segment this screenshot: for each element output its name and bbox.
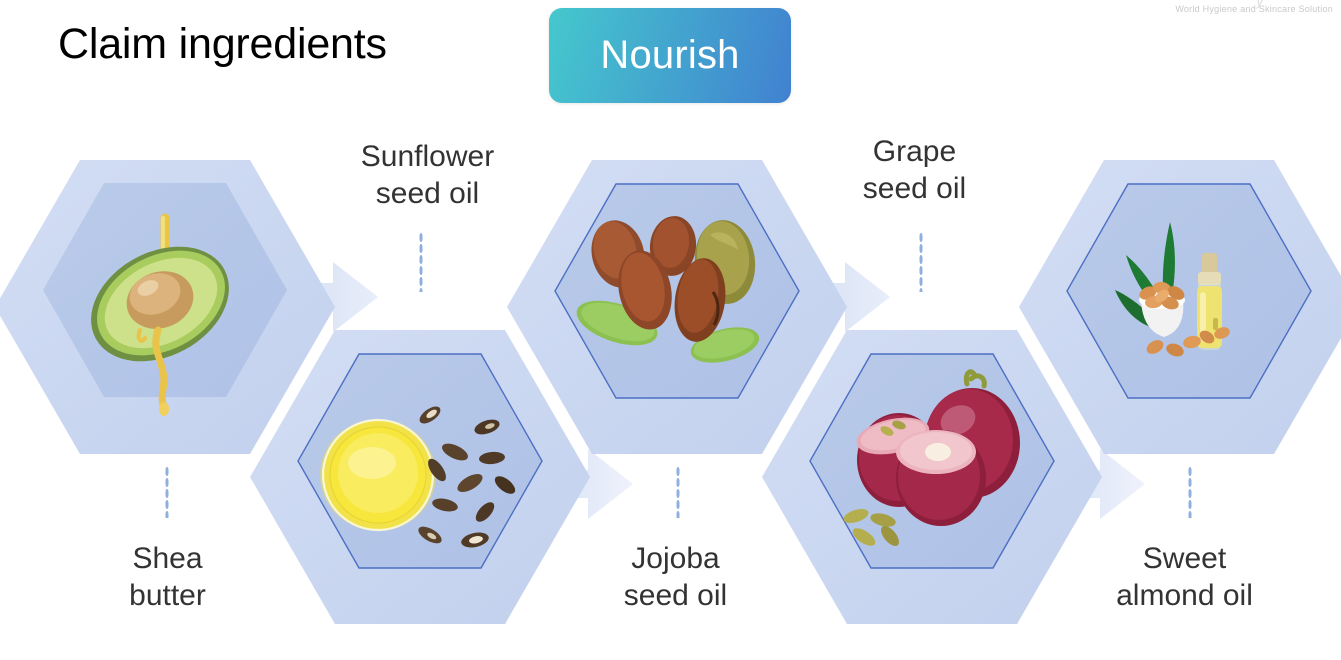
hex-label-grape: Grape seed oil (812, 133, 1017, 207)
dot-connector-shea (165, 466, 169, 518)
dot-connector-jojoba (676, 466, 680, 518)
slide-canvas: Claim ingredients Nourish y World Hygien… (0, 0, 1341, 660)
hex-label-jojoba: Jojoba seed oil (573, 540, 778, 614)
hex-label-sunflower: Sunflower seed oil (325, 138, 530, 212)
dot-connector-grape (919, 232, 923, 292)
hex-label-almond: Sweet almond oil (1082, 540, 1287, 614)
dot-connector-almond (1188, 466, 1192, 518)
hex-label-shea: Shea butter (65, 540, 270, 614)
dot-connector-sunflower (419, 232, 423, 292)
